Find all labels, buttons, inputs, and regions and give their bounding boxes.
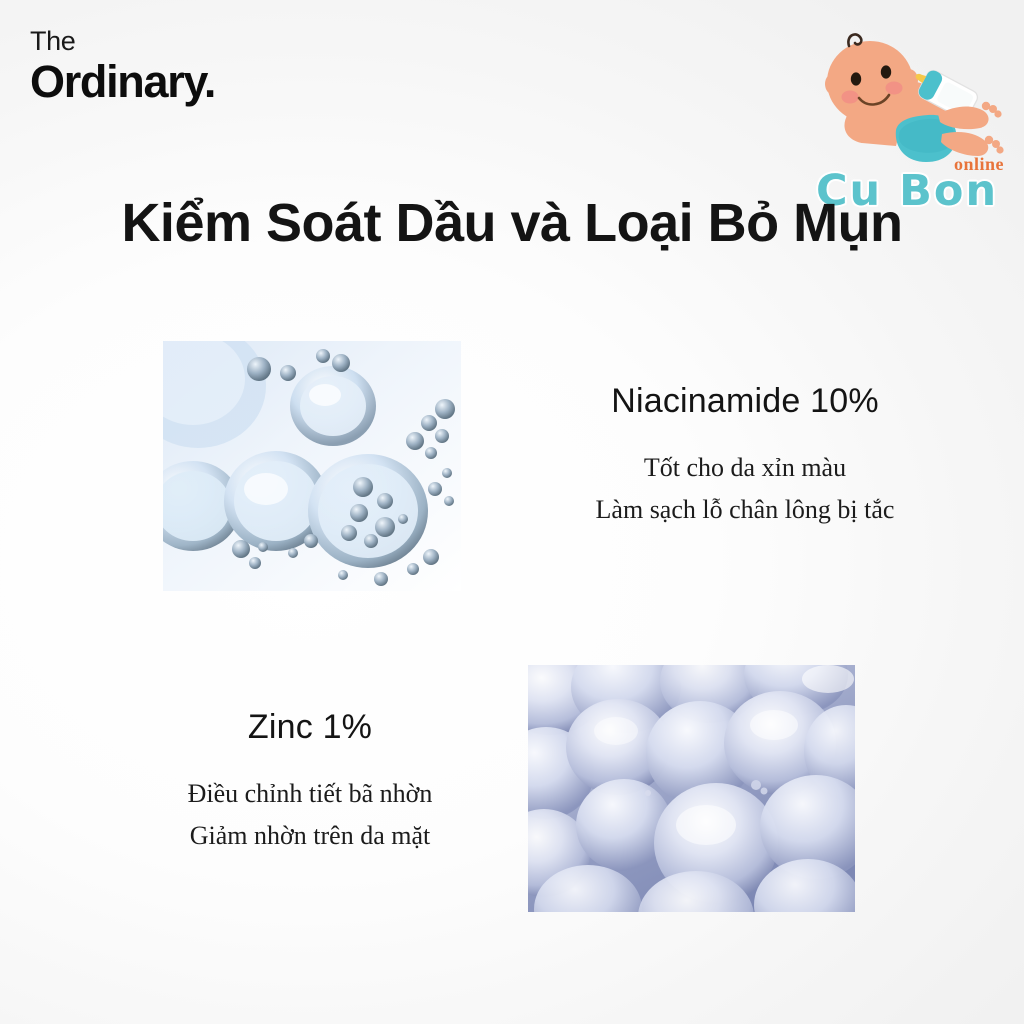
- brand-logo-ordinary: Ordinary.: [30, 59, 215, 104]
- page-title: Kiểm Soát Dầu và Loại Bỏ Mụn: [0, 192, 1024, 254]
- ingredient-title-niacinamide: Niacinamide 10%: [510, 382, 980, 421]
- ingredient-benefits-niacinamide: Tốt cho da xỉn màu Làm sạch lỗ chân lông…: [510, 447, 980, 531]
- ingredient-benefit-line: Giảm nhờn trên da mặt: [110, 815, 510, 857]
- ingredient-image-zinc: [528, 665, 855, 912]
- ingredient-block-niacinamide: Niacinamide 10% Tốt cho da xỉn màu Làm s…: [510, 382, 980, 531]
- ingredient-benefit-line: Tốt cho da xỉn màu: [510, 447, 980, 489]
- ingredient-image-niacinamide: [163, 341, 461, 591]
- brand-logo-the: The: [30, 28, 215, 55]
- product-infographic-poster: The Ordinary.: [0, 0, 1024, 1024]
- ingredient-block-zinc: Zinc 1% Điều chỉnh tiết bã nhờn Giảm nhờ…: [110, 708, 510, 857]
- ingredient-benefits-zinc: Điều chỉnh tiết bã nhờn Giảm nhờn trên d…: [110, 773, 510, 857]
- shop-logo-tagline: online: [954, 154, 1004, 175]
- baby-with-bottle-icon: [810, 22, 1010, 172]
- brand-logo-the-ordinary: The Ordinary.: [30, 28, 215, 104]
- ingredient-title-zinc: Zinc 1%: [110, 708, 510, 747]
- ingredient-benefit-line: Điều chỉnh tiết bã nhờn: [110, 773, 510, 815]
- ingredient-benefit-line: Làm sạch lỗ chân lông bị tắc: [510, 489, 980, 531]
